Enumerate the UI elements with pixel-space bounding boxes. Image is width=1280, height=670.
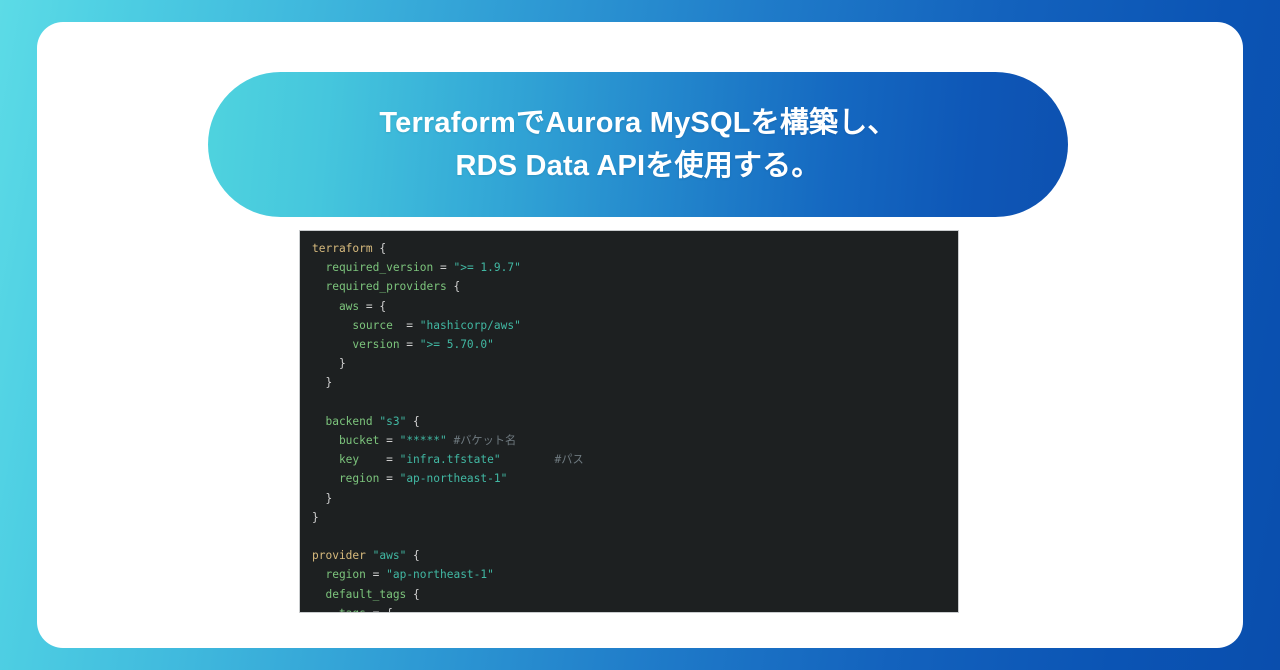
code-token: "ap-northeast-1" [400,472,508,485]
code-token: = { [366,300,386,313]
code-token: = [386,434,399,447]
code-line: source = "hashicorp/aws" [300,316,958,335]
page-title: TerraformでAurora MySQLを構築し、 RDS Data API… [339,102,936,186]
code-token: tags [312,607,373,613]
code-line: terraform { [300,239,958,258]
code-token: { [453,280,460,293]
code-line: bucket = "*****" #バケット名 [300,431,958,450]
code-token: } [312,357,346,370]
code-token [501,453,555,466]
code-token: ">= 5.70.0" [420,338,494,351]
code-line: backend "s3" { [300,412,958,431]
code-token: backend [312,415,379,428]
code-token: bucket [312,434,386,447]
code-line: } [300,508,958,527]
code-line: default_tags { [300,585,958,604]
code-token: } [312,511,319,524]
code-token: } [312,376,332,389]
code-token: default_tags [312,588,413,601]
code-token: key [312,453,386,466]
code-token: = [386,472,399,485]
code-line [300,527,958,546]
page-title-line-2: RDS Data APIを使用する。 [455,150,820,182]
code-token: region [312,472,386,485]
code-line: region = "ap-northeast-1" [300,565,958,584]
code-line: aws = { [300,297,958,316]
code-token: { [413,588,420,601]
code-token: "infra.tfstate" [400,453,501,466]
code-token: = [406,319,419,332]
code-token: "aws" [373,549,413,562]
code-token: { [413,415,420,428]
code-token: = [386,453,399,466]
code-token: version [312,338,406,351]
code-token: required_version [312,261,440,274]
code-token: { [413,549,420,562]
code-line: required_providers { [300,277,958,296]
code-token: "*****" [400,434,454,447]
code-line: } [300,489,958,508]
code-token: "ap-northeast-1" [386,568,494,581]
code-token: "hashicorp/aws" [420,319,521,332]
code-token: source [312,319,406,332]
code-token: = [440,261,453,274]
code-token: #バケット名 [453,434,516,447]
code-token: { [379,242,386,255]
code-token: ">= 1.9.7" [453,261,520,274]
code-line: } [300,373,958,392]
code-token: terraform [312,242,379,255]
code-line: } [300,354,958,373]
code-line: required_version = ">= 1.9.7" [300,258,958,277]
code-token: #パス [555,453,584,466]
content-card: TerraformでAurora MySQLを構築し、 RDS Data API… [37,22,1243,648]
code-token: } [312,492,332,505]
code-token: = [406,338,419,351]
code-line: region = "ap-northeast-1" [300,469,958,488]
code-token: required_providers [312,280,453,293]
code-token: provider [312,549,373,562]
code-token: region [312,568,373,581]
code-line [300,393,958,412]
code-line: key = "infra.tfstate" #パス [300,450,958,469]
title-banner-pill: TerraformでAurora MySQLを構築し、 RDS Data API… [208,72,1068,217]
code-token: = { [373,607,393,613]
page-title-line-1: TerraformでAurora MySQLを構築し、 [379,107,896,139]
code-block[interactable]: terraform { required_version = ">= 1.9.7… [299,230,959,613]
code-line: provider "aws" { [300,546,958,565]
code-token: "s3" [379,415,413,428]
code-token: aws [312,300,366,313]
code-line: version = ">= 5.70.0" [300,335,958,354]
code-line: tags = { [300,604,958,613]
code-token: = [373,568,386,581]
code-block-content: terraform { required_version = ">= 1.9.7… [300,231,958,613]
